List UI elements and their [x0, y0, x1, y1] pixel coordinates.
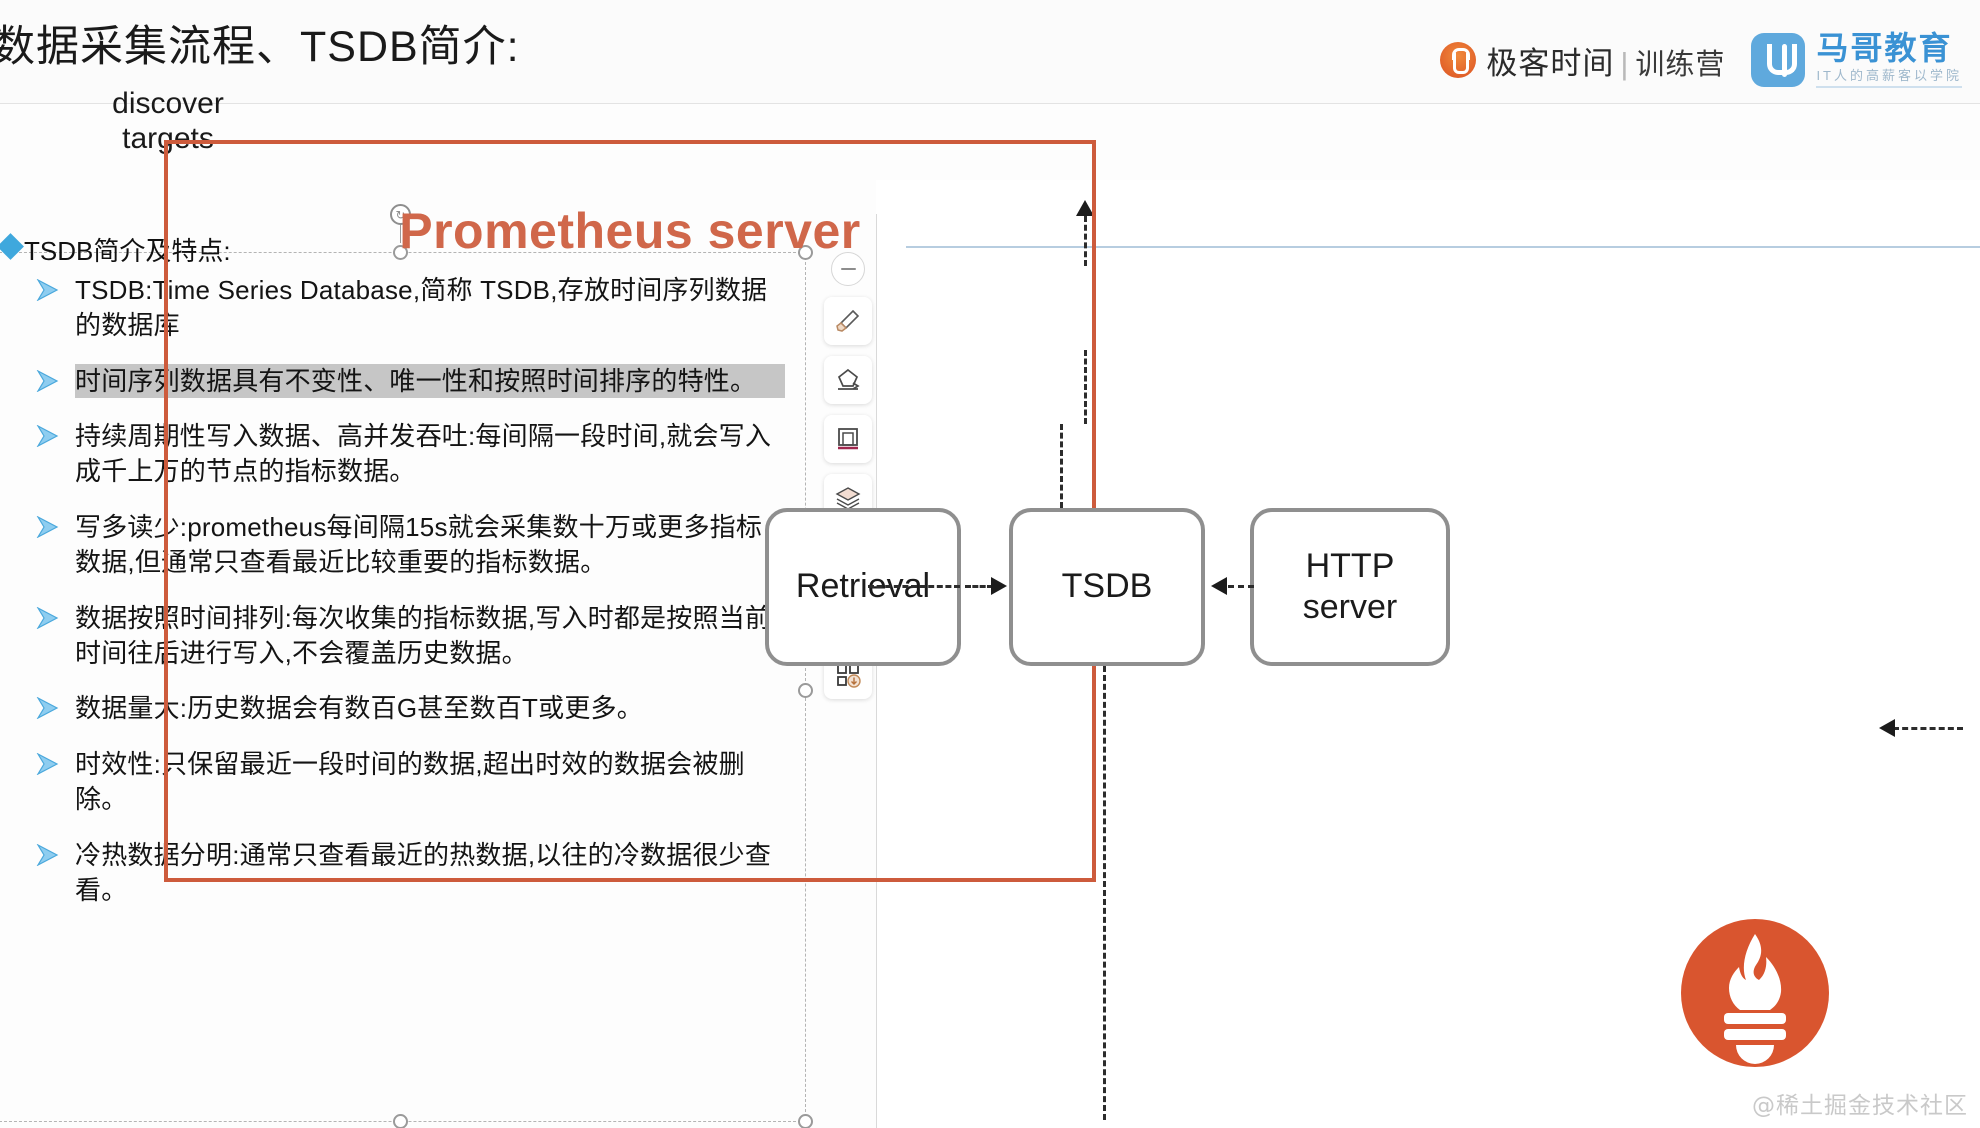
- page-title: 数据采集流程、TSDB简介:: [0, 12, 520, 74]
- resize-handle-bottom-right[interactable]: [798, 1114, 813, 1128]
- arrow-bullet-icon: [35, 838, 75, 866]
- magedu-name: 马哥教育: [1816, 32, 1962, 64]
- connector-right-in: [1893, 727, 1963, 730]
- slide-canvas: 数据采集流程、TSDB简介: 极客时间|训练营 马哥教育 IT人的高薪客以学院 …: [0, 0, 1980, 1128]
- magedu-tagline: IT人的高薪客以学院: [1816, 69, 1962, 82]
- magedu-logo: 马哥教育 IT人的高薪客以学院: [1751, 32, 1962, 88]
- connector-retrieval-to-tsdb: [965, 585, 993, 588]
- discover-targets-line1: discover: [18, 86, 318, 121]
- geek-time-wordmark: 极客时间|训练营: [1486, 38, 1725, 83]
- resize-handle-bottom[interactable]: [393, 1114, 408, 1128]
- connector-retrieval-up: [1060, 424, 1063, 508]
- geek-time-separator: |: [1614, 46, 1635, 81]
- arrow-bullet-icon: [35, 510, 75, 538]
- prometheus-server-container: Prometheus server: [164, 140, 1096, 882]
- connector-retrieval-to-tsdb-head: [991, 577, 1007, 595]
- prometheus-server-title: Prometheus server: [168, 202, 1092, 260]
- connector-right-in-head: [1879, 719, 1895, 737]
- connector-left-in: [868, 585, 960, 588]
- arrow-bullet-icon: [35, 273, 75, 301]
- magedu-underline: [1816, 86, 1962, 88]
- node-tsdb: TSDB: [1009, 508, 1205, 666]
- node-http-server-line1: HTTP: [1306, 547, 1395, 585]
- arrow-bullet-icon: [35, 747, 75, 775]
- node-tsdb-label: TSDB: [1062, 566, 1153, 607]
- geek-time-logo: 极客时间|训练营: [1440, 38, 1725, 83]
- connector-http-to-tsdb-head: [1211, 577, 1227, 595]
- geek-time-sub: 训练营: [1635, 49, 1725, 81]
- node-http-server-label: HTTP server: [1303, 546, 1397, 629]
- arrow-bullet-icon: [35, 419, 75, 447]
- node-http-server-line2: server: [1303, 588, 1397, 626]
- node-http-server: HTTP server: [1250, 508, 1450, 666]
- arrow-bullet-icon: [35, 601, 75, 629]
- geek-time-logo-icon: [1440, 42, 1476, 78]
- connector-http-to-tsdb: [1228, 585, 1254, 588]
- prometheus-flame-logo-icon: [1674, 912, 1836, 1074]
- geek-time-name: 极客时间: [1486, 46, 1614, 81]
- diamond-bullet-icon: [0, 233, 24, 260]
- watermark: @稀土掘金技术社区: [1752, 1086, 1968, 1120]
- arrow-bullet-icon: [35, 364, 75, 392]
- branding-logos: 极客时间|训练营 马哥教育 IT人的高薪客以学院: [1440, 32, 1962, 88]
- arrow-bullet-icon: [35, 691, 75, 719]
- connector-tsdb-down: [1103, 666, 1106, 1120]
- magedu-logo-icon: [1751, 33, 1805, 87]
- magedu-wordmark: 马哥教育 IT人的高薪客以学院: [1816, 32, 1962, 88]
